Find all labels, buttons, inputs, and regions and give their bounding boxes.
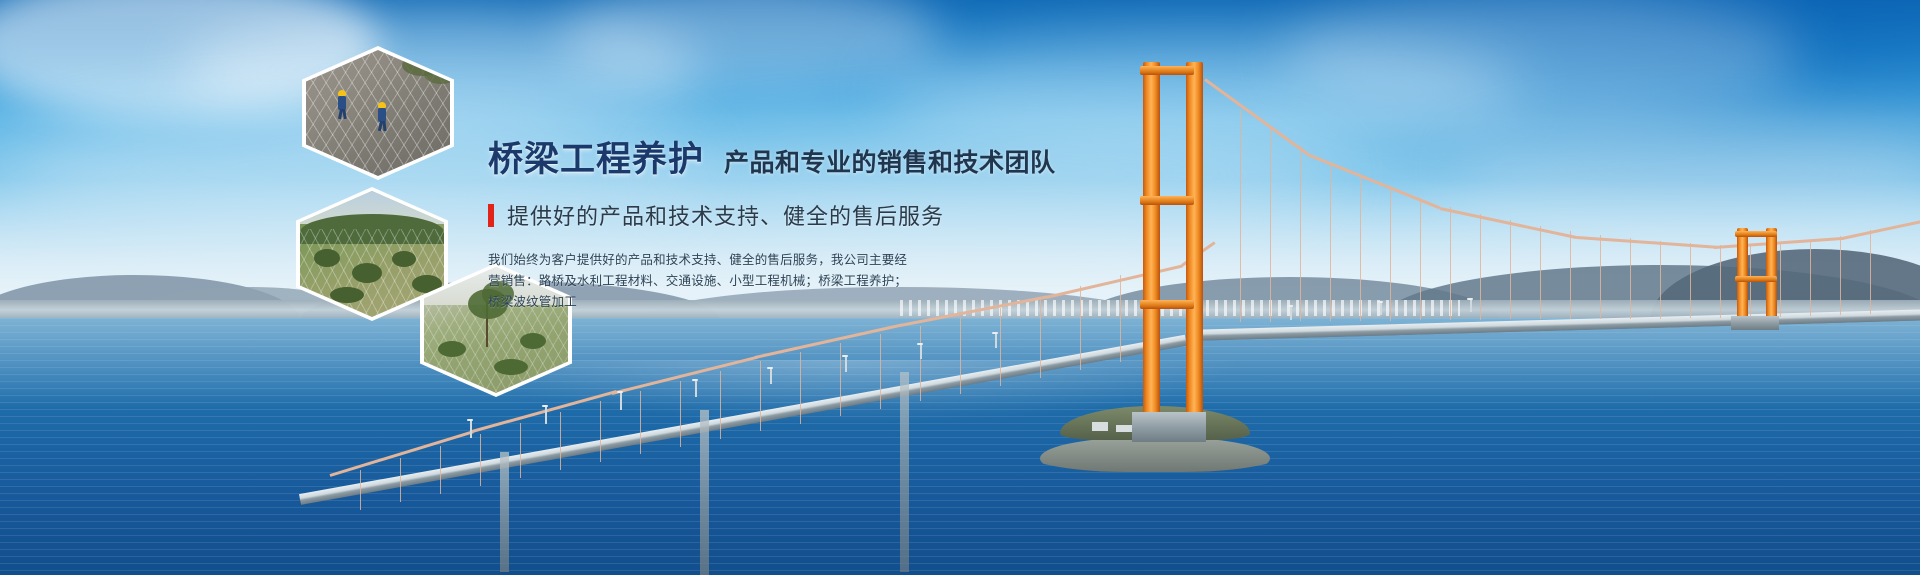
subheadline-row: 提供好的产品和技术支持、健全的售后服务	[488, 199, 1048, 231]
headline-row: 桥梁工程养护 产品和专业的销售和技术团队	[488, 131, 1048, 182]
hero-banner: 桥梁工程养护 产品和专业的销售和技术团队 提供好的产品和技术支持、健全的售后服务…	[0, 0, 1920, 575]
headline-secondary: 产品和专业的销售和技术团队	[724, 143, 1056, 179]
subheadline: 提供好的产品和技术支持、健全的售后服务	[507, 199, 944, 231]
banner-description: 我们始终为客户提供好的产品和技术支持、健全的售后服务，我公司主要经营销售：路桥及…	[488, 250, 918, 313]
banner-text-block: 桥梁工程养护 产品和专业的销售和技术团队 提供好的产品和技术支持、健全的售后服务…	[488, 131, 1048, 313]
accent-bar-icon	[488, 204, 494, 227]
rock-slope-mesh-installation-photo	[306, 50, 450, 176]
page-title: 桥梁工程养护	[488, 131, 704, 182]
